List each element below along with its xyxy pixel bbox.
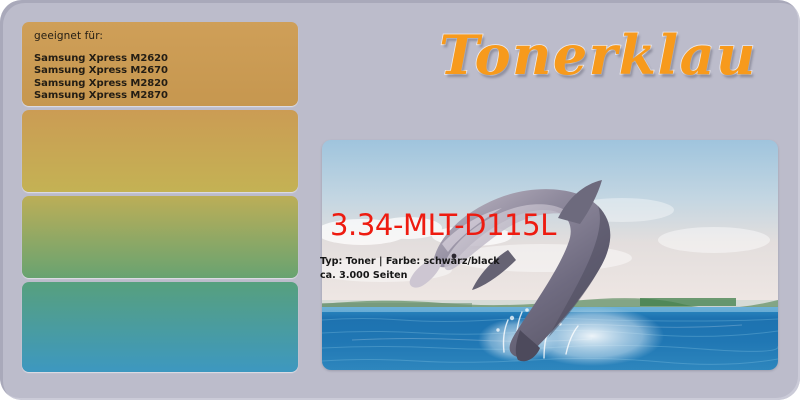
- printer-model-3: Samsung Xpress M2820: [34, 78, 290, 91]
- product-card-page: geeignet für: Samsung Xpress M2620 Samsu…: [0, 0, 800, 400]
- color-swatch-tan-yellow: [22, 110, 298, 192]
- color-swatch-green-blue: [22, 282, 298, 372]
- compatibility-panel: geeignet für: Samsung Xpress M2620 Samsu…: [22, 22, 298, 106]
- compatibility-heading: geeignet für:: [34, 31, 290, 42]
- compatibility-text-block: geeignet für: Samsung Xpress M2620 Samsu…: [34, 31, 290, 103]
- printer-model-1: Samsung Xpress M2620: [34, 53, 290, 66]
- product-meta-line-1: Typ: Toner | Farbe: schwarz/black: [320, 255, 500, 269]
- product-code: 3.34-MLT-D115L: [330, 210, 556, 240]
- printer-model-2: Samsung Xpress M2670: [34, 65, 290, 78]
- product-meta-line-2: ca. 3.000 Seiten: [320, 269, 500, 283]
- product-meta-block: Typ: Toner | Farbe: schwarz/black ca. 3.…: [320, 255, 500, 283]
- brand-title: Tonerklau: [418, 22, 778, 92]
- printer-model-4: Samsung Xpress M2870: [34, 90, 290, 103]
- color-swatch-yellow-green: [22, 196, 298, 278]
